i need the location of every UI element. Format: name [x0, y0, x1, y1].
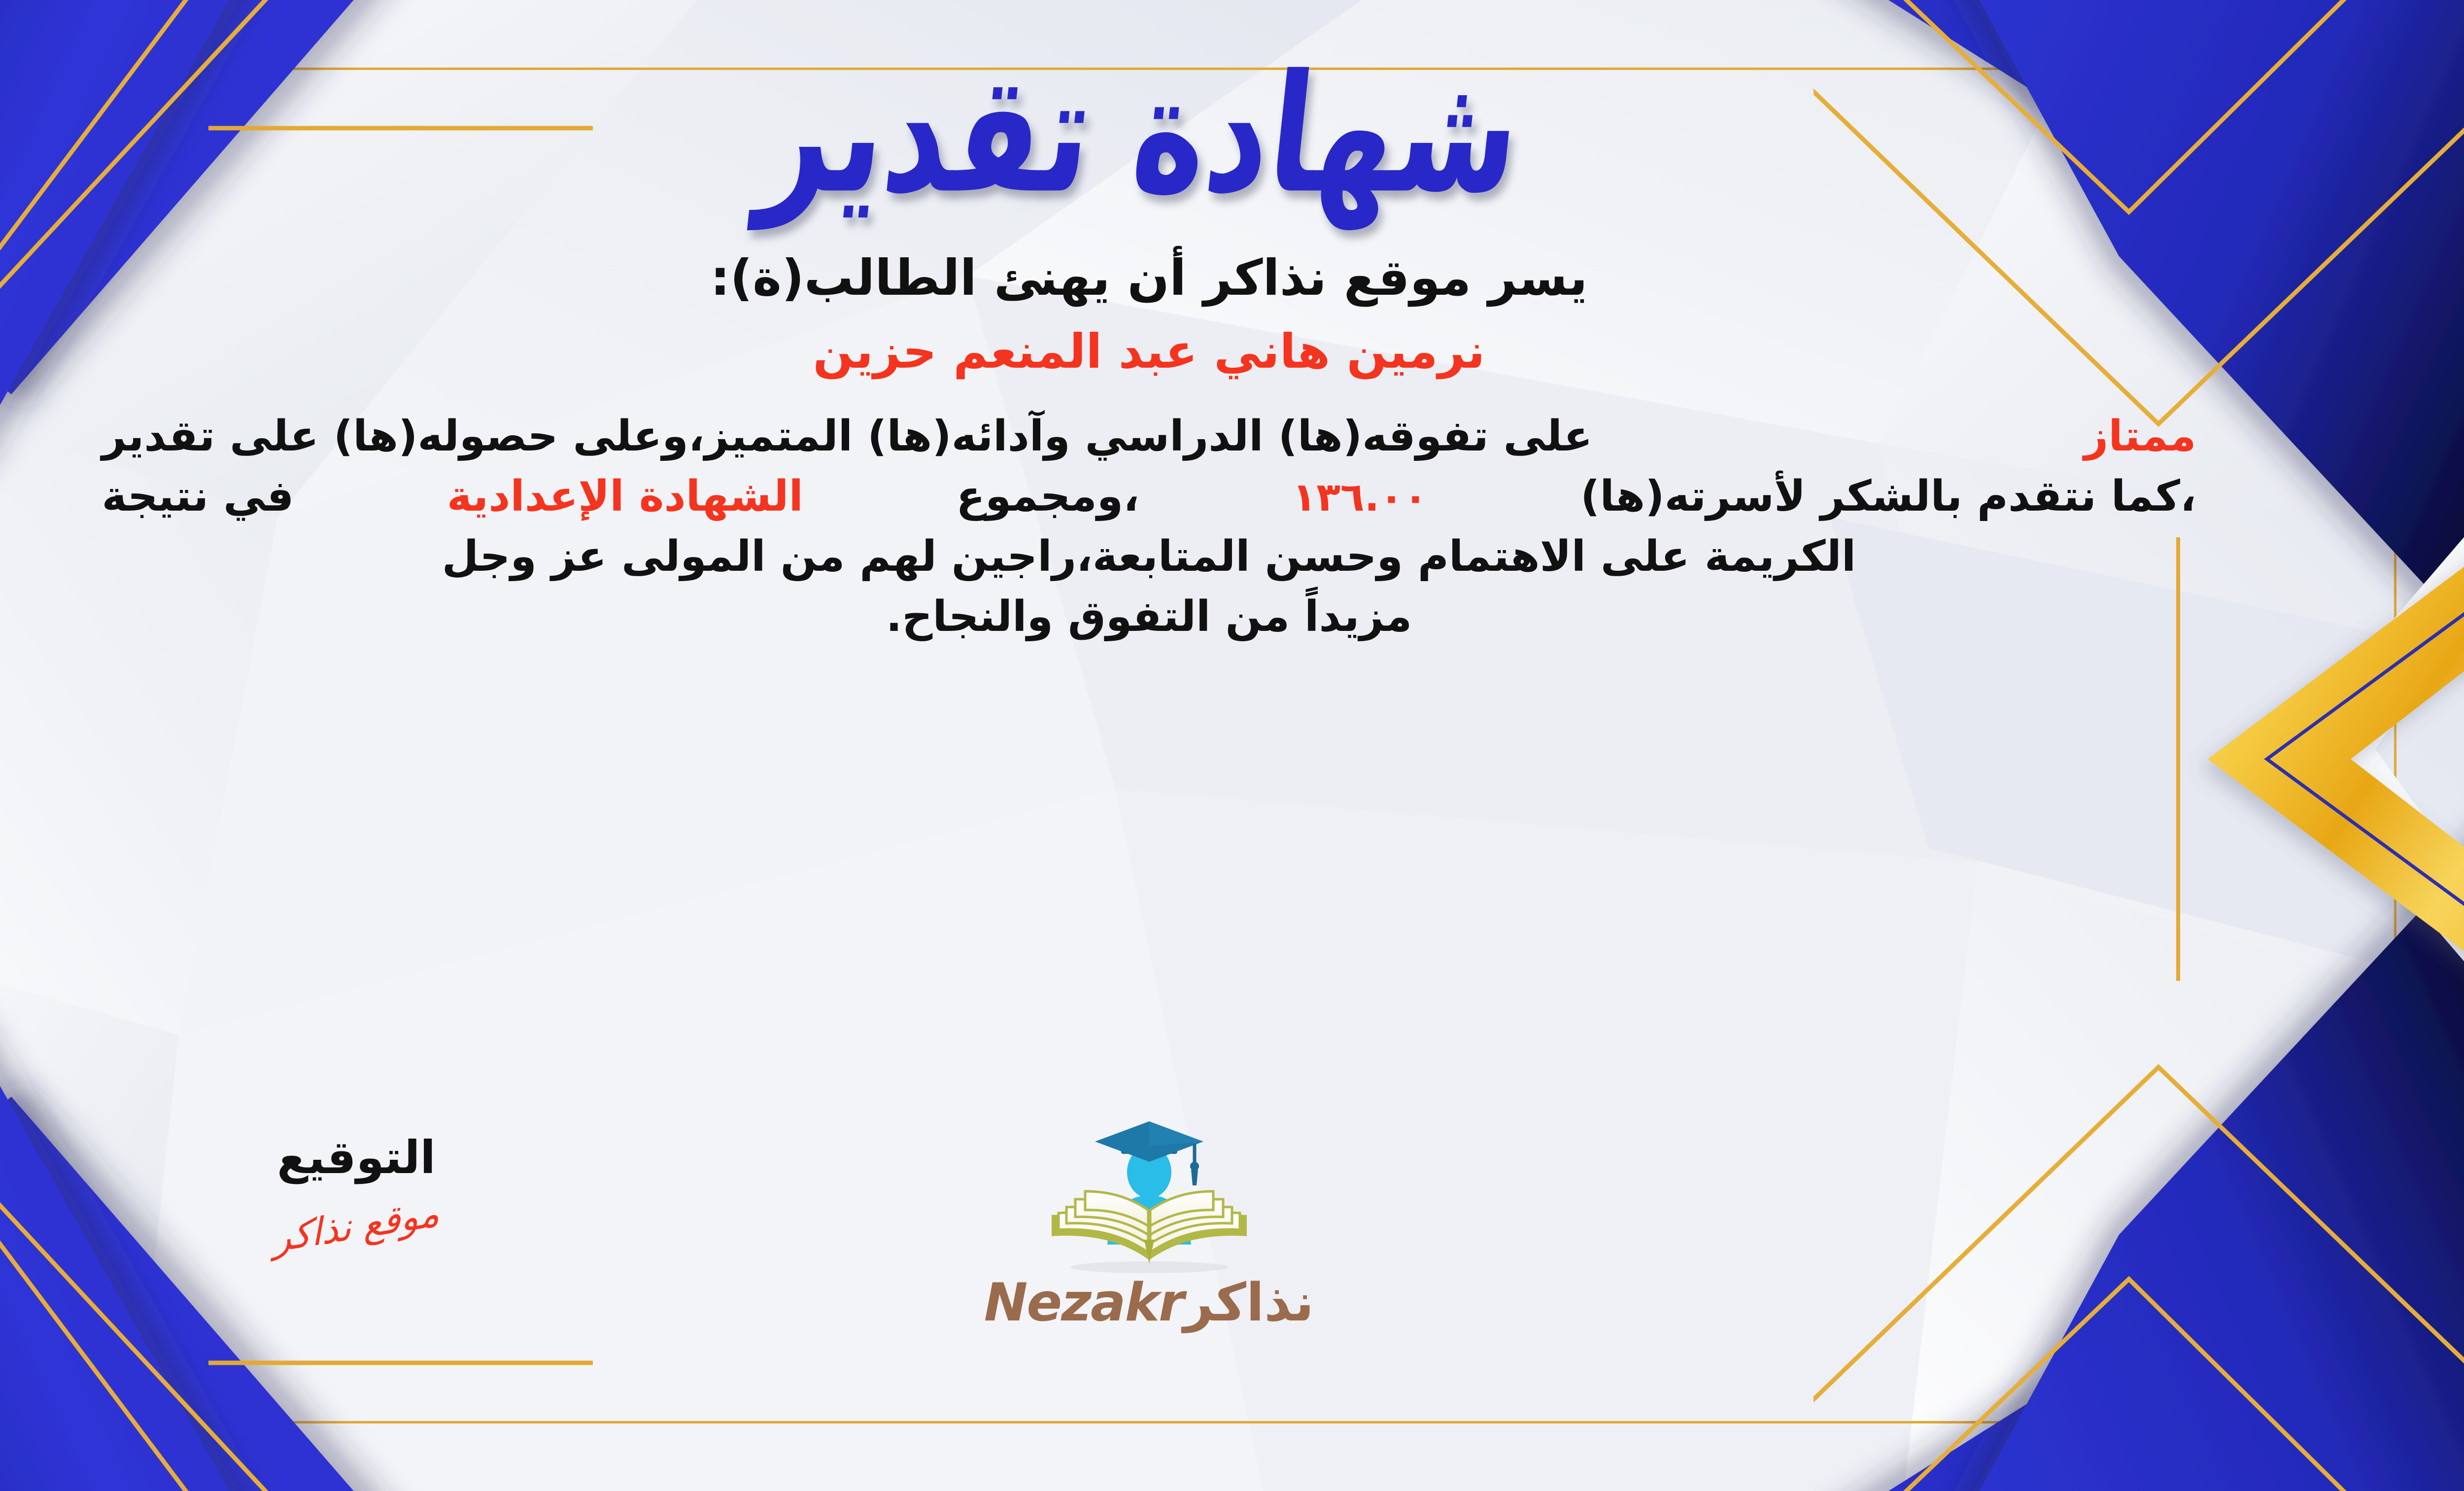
citation-text-5: مزيداً من التفوق والنجاح. — [886, 587, 1412, 647]
exam-name-value: الشهادة الإعدادية — [447, 466, 803, 526]
student-name: نرمين هاني عبد المنعم حزين — [82, 325, 2216, 379]
total-score-value: ١٣٦.٠٠ — [1292, 469, 1428, 525]
citation-text-3: ،كما نتقدم بالشكر لأسرته(ها) — [1580, 466, 2196, 526]
certificate-body: يسر موقع نذاكر أن يهنئ الطالب(ة): نرمين … — [82, 250, 2216, 647]
citation-text-2a: في نتيجة — [102, 466, 294, 526]
certificate-footer: التوقيع موقع نذاكر — [0, 1131, 2464, 1407]
citation-paragraph: ممتاز على تفوقه(ها) الدراسي وآدائه(ها) ا… — [102, 406, 2196, 647]
citation-text-4: الكريمة على الاهتمام وحسن المتابعة،راجين… — [442, 526, 1856, 587]
citation-row-1: ممتاز على تفوقه(ها) الدراسي وآدائه(ها) ا… — [102, 406, 2196, 466]
citation-text-2b: ،ومجموع — [956, 466, 1139, 526]
brand-name-arabic: نذاكر — [1183, 1272, 1314, 1333]
brand-logo-block: Nezakrنذاكر — [962, 1116, 1336, 1333]
graduate-book-logo-icon — [1021, 1116, 1277, 1279]
grade-value: ممتاز — [2084, 406, 2196, 466]
certificate-title-block: شهادة تقدير — [0, 53, 2464, 216]
page-title: شهادة تقدير — [748, 53, 1527, 268]
brand-name-latin: Nezakr — [984, 1272, 1184, 1333]
signature-handwriting: موقع نذاكر — [272, 1190, 441, 1261]
citation-row-2: ،كما نتقدم بالشكر لأسرته(ها) ١٣٦.٠٠ ،ومج… — [102, 466, 2196, 526]
signature-block: التوقيع موقع نذاكر — [218, 1131, 494, 1248]
certificate-page: شهادة تقدير يسر موقع نذاكر أن يهنئ الطال… — [0, 0, 2464, 1491]
brand-wordmark: Nezakrنذاكر — [962, 1272, 1336, 1333]
signature-label: التوقيع — [218, 1131, 494, 1184]
citation-row-3: الكريمة على الاهتمام وحسن المتابعة،راجين… — [102, 526, 2196, 587]
citation-row-4: مزيداً من التفوق والنجاح. — [102, 587, 2196, 647]
citation-text-1: على تفوقه(ها) الدراسي وآدائه(ها) المتميز… — [102, 406, 1593, 466]
